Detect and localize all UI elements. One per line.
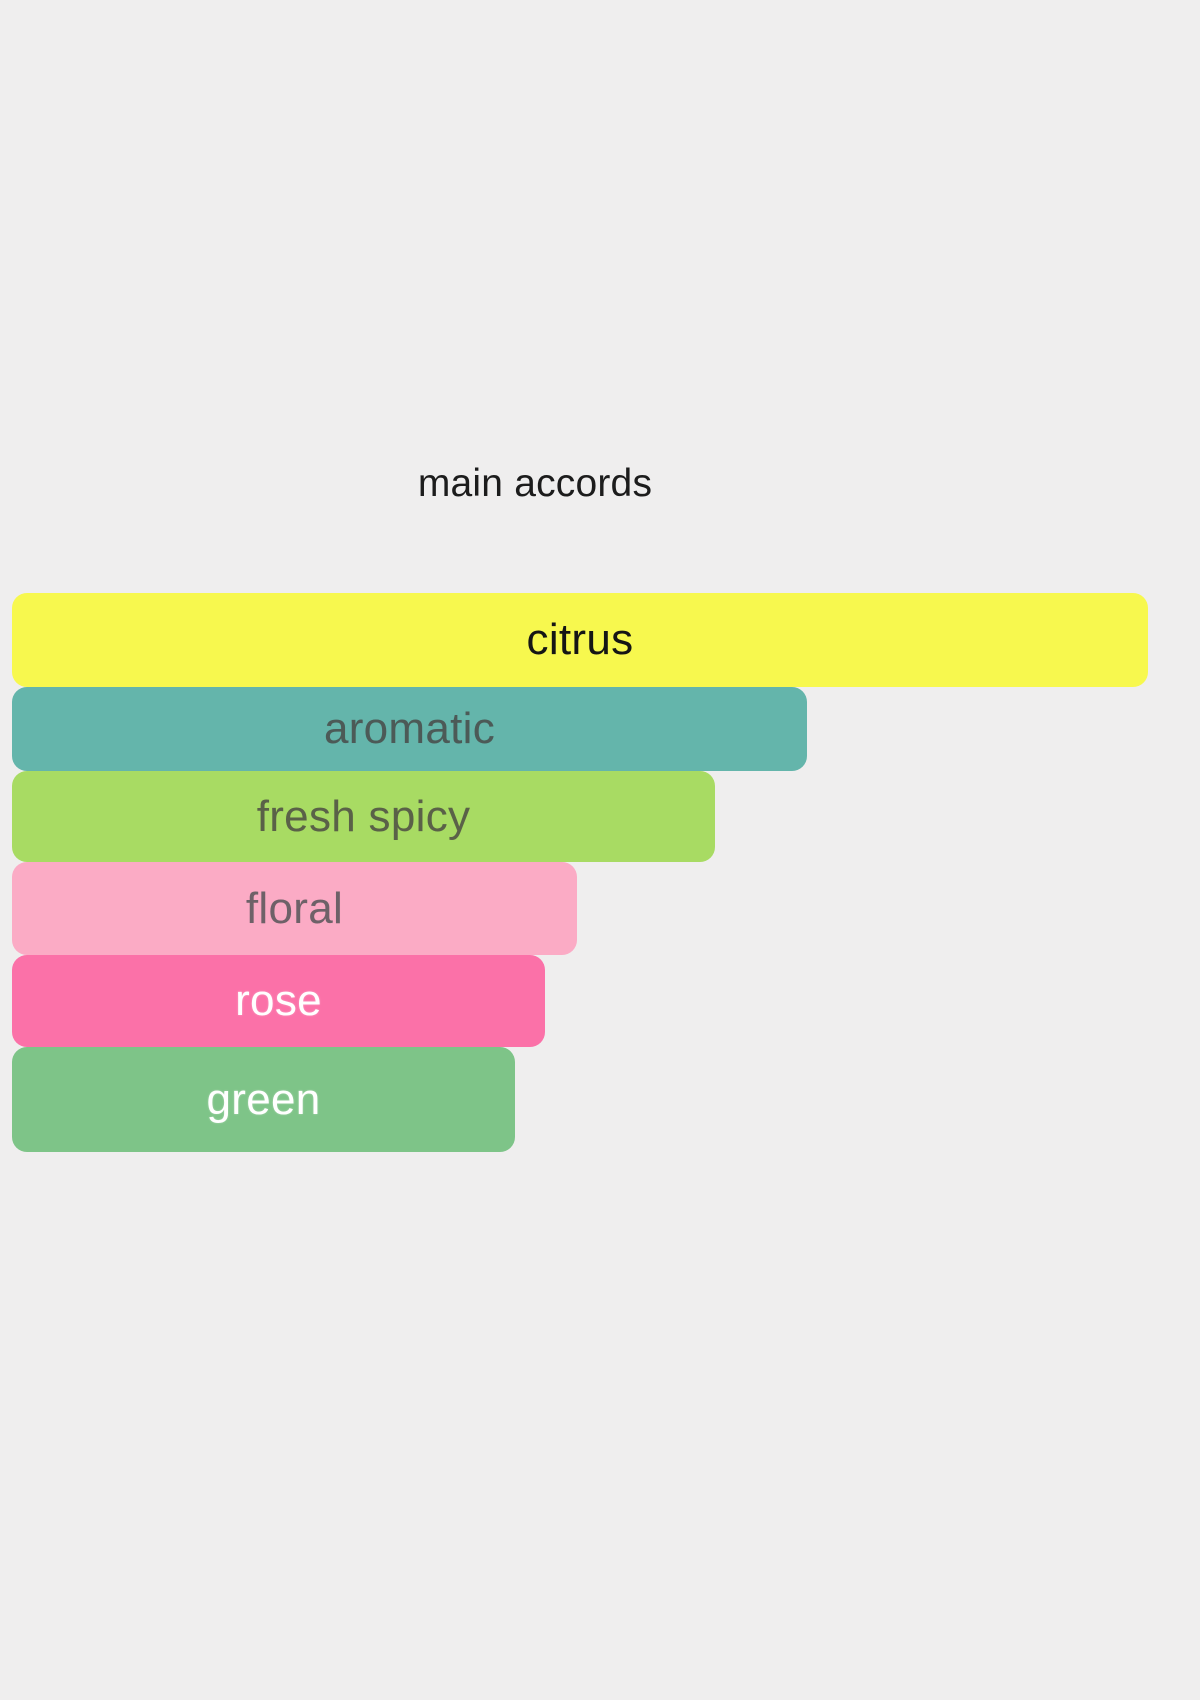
accord-bar-citrus[interactable]: citrus <box>12 593 1148 687</box>
accord-bar-label: floral <box>12 887 577 931</box>
accord-bar-label: citrus <box>12 618 1148 662</box>
accord-bar-label: rose <box>12 979 545 1023</box>
accord-bar-aromatic[interactable]: aromatic <box>12 687 807 771</box>
accord-bar-rose[interactable]: rose <box>12 955 545 1047</box>
accord-bar-green[interactable]: green <box>12 1047 515 1152</box>
accord-bar-label: aromatic <box>12 707 807 751</box>
accord-bar-fresh-spicy[interactable]: fresh spicy <box>12 771 715 862</box>
accord-bar-label: fresh spicy <box>12 795 715 839</box>
chart-title: main accords <box>0 458 1070 510</box>
main-accords-widget: main accords citrus aromatic fresh spicy… <box>0 0 1200 1700</box>
accord-bar-label: green <box>12 1078 515 1122</box>
accord-bar-floral[interactable]: floral <box>12 862 577 955</box>
